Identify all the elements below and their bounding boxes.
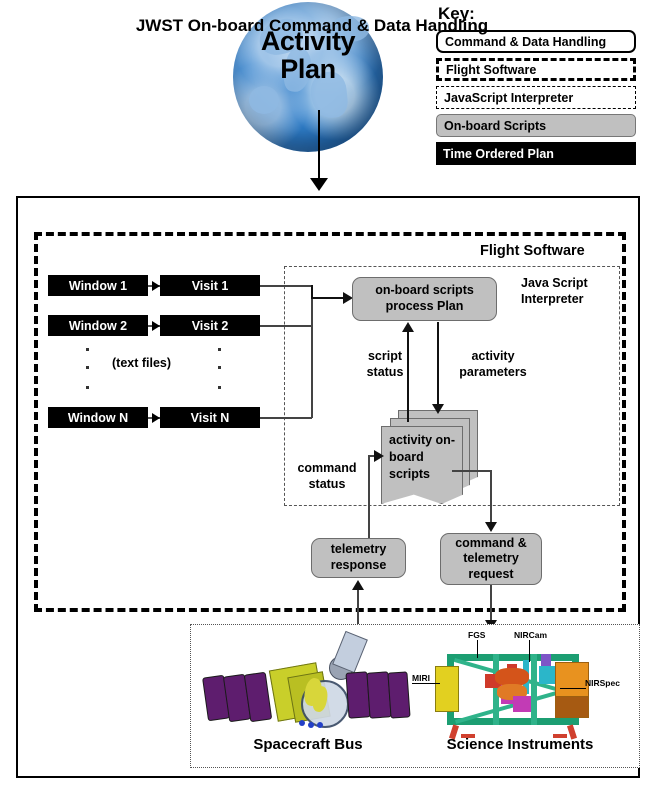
command-status-line: [368, 455, 370, 540]
spacecraft-bus-caption: Spacecraft Bus: [228, 736, 388, 753]
ellipsis-dot: [86, 366, 89, 369]
key-item-label: JavaScript Interpreter: [444, 91, 573, 105]
key-item-on-board-scripts: On-board Scripts: [436, 114, 636, 137]
visit-label: Visit N: [191, 411, 230, 425]
command-telemetry-request-box: command & telemetry request: [440, 533, 542, 585]
command-status-label: command status: [288, 460, 366, 493]
scripts-to-request-arrow-head: [485, 522, 497, 532]
telemetry-response-label: telemetry response: [312, 542, 405, 573]
instrument-label-nircam: NIRCam: [514, 630, 547, 640]
activity-parameters-line: [437, 322, 439, 408]
visit-box-2: Visit 2: [160, 315, 260, 336]
visit-box-n: Visit N: [160, 407, 260, 428]
instrument-label-fgs: FGS: [468, 630, 485, 640]
telemetry-response-arrow-head: [352, 580, 364, 590]
ellipsis-dot: [218, 386, 221, 389]
visit-bus-line-2: [260, 325, 312, 327]
visit-label: Visit 1: [192, 279, 229, 293]
instrument-label-nirspec: NIRSpec: [585, 678, 620, 688]
ellipsis-dot: [218, 366, 221, 369]
activity-parameters-label: activity parameters: [448, 348, 538, 381]
process-plan-box: on-board scripts process Plan: [352, 277, 497, 321]
key-item-flight-software: Flight Software: [436, 58, 636, 81]
key-item-label: On-board Scripts: [444, 119, 546, 133]
activity-plan-label: Activity Plan: [233, 28, 383, 83]
activity-plan-arrow-line: [318, 110, 320, 182]
visit-to-process-line: [311, 297, 345, 299]
key-item-javascript-interpreter: JavaScript Interpreter: [436, 86, 636, 109]
miri-leader-line: [412, 683, 440, 684]
visit-bus-vertical: [311, 285, 313, 418]
nirspec-leader-line: [560, 688, 586, 689]
ellipsis-dot: [86, 386, 89, 389]
window-visit-arrow-head-n: [152, 413, 160, 423]
window-visit-arrow-head-2: [152, 321, 160, 331]
key-item-label: Time Ordered Plan: [443, 147, 554, 161]
script-status-label: script status: [352, 348, 418, 381]
window-visit-arrow-head-1: [152, 281, 160, 291]
activity-scripts-label: activity on-board scripts: [389, 432, 461, 483]
scripts-to-request-line: [490, 470, 492, 528]
request-to-instruments-line: [490, 585, 492, 625]
command-telemetry-request-label: command & telemetry request: [441, 536, 541, 583]
instrument-label-miri: MIRI: [412, 673, 430, 683]
command-status-arrow-head: [374, 450, 384, 462]
nircam-leader-line: [529, 640, 530, 662]
process-plan-label: on-board scripts process Plan: [353, 283, 496, 314]
script-status-arrow-head: [402, 322, 414, 332]
key-item-time-ordered-plan: Time Ordered Plan: [436, 142, 636, 165]
visit-label: Visit 2: [192, 319, 229, 333]
visit-bus-line-n: [260, 417, 312, 419]
visit-box-1: Visit 1: [160, 275, 260, 296]
activity-parameters-arrow-head: [432, 404, 444, 414]
window-label: Window N: [68, 411, 128, 425]
window-label: Window 1: [69, 279, 127, 293]
window-box-1: Window 1: [48, 275, 148, 296]
window-box-n: Window N: [48, 407, 148, 428]
flight-software-label: Flight Software: [480, 243, 585, 259]
javascript-interpreter-label: Java Script Interpreter: [521, 275, 613, 307]
scripts-to-request-branch: [452, 470, 492, 472]
telemetry-response-box: telemetry response: [311, 538, 406, 578]
science-instruments-caption: Science Instruments: [420, 736, 620, 753]
window-box-2: Window 2: [48, 315, 148, 336]
text-files-note: (text files): [112, 356, 171, 370]
key-item-label: Flight Software: [446, 63, 536, 77]
ellipsis-dot: [86, 348, 89, 351]
diagram-title: JWST On-board Command & Data Handling: [0, 16, 624, 36]
window-label: Window 2: [69, 319, 127, 333]
activity-plan-arrow-head: [310, 178, 328, 191]
ellipsis-dot: [218, 348, 221, 351]
spacecraft-bus-image: [205, 648, 390, 733]
key-item-label: Command & Data Handling: [445, 35, 606, 49]
fgs-leader-line: [477, 640, 478, 658]
telemetry-response-input-line: [357, 588, 359, 628]
visit-bus-line-1: [260, 285, 312, 287]
